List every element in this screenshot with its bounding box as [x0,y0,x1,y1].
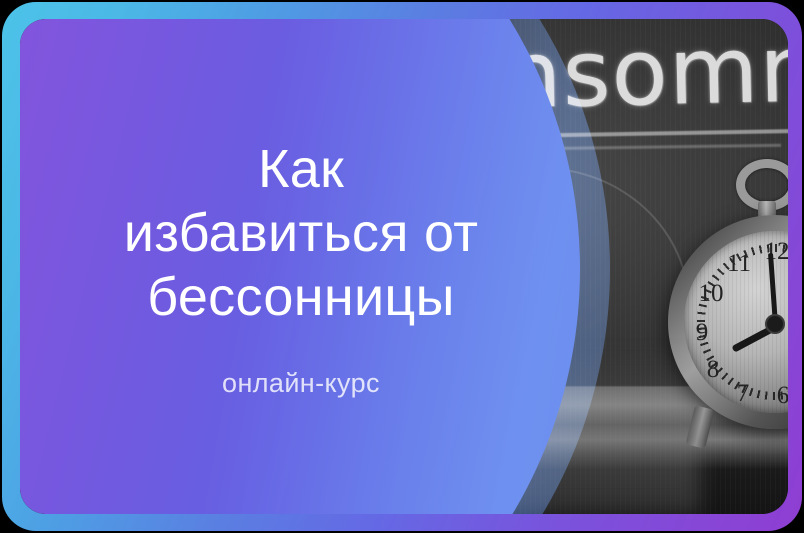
clock-numeral-8: 8 [698,357,728,382]
clock-numeral-12: 12 [762,239,788,264]
card-inner-surface: Insomni 12 11 10 9 8 7 6 [20,19,788,514]
clock-numeral-11: 11 [724,251,754,276]
clock-numeral-10: 10 [696,281,726,306]
clock-numeral-6: 6 [768,383,788,408]
promo-card[interactable]: Insomni 12 11 10 9 8 7 6 [2,2,802,531]
clock-numeral-7: 7 [728,381,758,406]
promo-text-block: Как избавиться от бессонницы онлайн-курс [56,137,546,399]
course-title: Как избавиться от бессонницы [56,137,546,329]
clock-center-pin-icon [765,314,785,334]
clock-numeral-9: 9 [687,320,717,345]
course-subtitle: онлайн-курс [56,367,546,399]
